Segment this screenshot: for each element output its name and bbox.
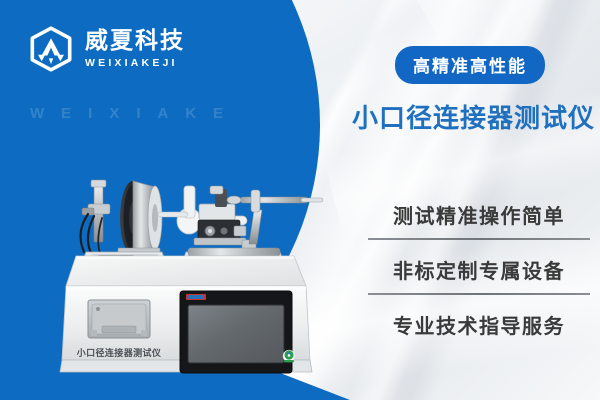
feature-item: 非标定制专属设备 bbox=[368, 255, 590, 302]
feature-item: 测试精准操作简单 bbox=[368, 200, 590, 247]
feature-label: 测试精准操作简单 bbox=[368, 200, 590, 229]
device-front-label: 小口径连接器测试仪 bbox=[76, 347, 162, 359]
product-illustration: 小口径连接器测试仪 bbox=[58, 160, 326, 382]
highlight-badge: 高精准高性能 bbox=[395, 46, 545, 84]
brand-watermark: WEIXIAKE bbox=[30, 105, 240, 122]
feature-label: 非标定制专属设备 bbox=[368, 255, 590, 284]
feature-divider bbox=[368, 238, 590, 240]
feature-list: 测试精准操作简单 非标定制专属设备 专业技术指导服务 bbox=[368, 200, 590, 346]
logo-name-en: WEIXIAKEJI bbox=[85, 58, 185, 69]
feature-divider bbox=[368, 293, 590, 295]
product-banner: 威夏科技 WEIXIAKEJI WEIXIAKE 高精准高性能 小口径连接器测试… bbox=[0, 0, 600, 400]
product-title: 小口径连接器测试仪 bbox=[352, 98, 588, 135]
product-photo: 小口径连接器测试仪 bbox=[58, 160, 326, 382]
headline-block: 高精准高性能 小口径连接器测试仪 bbox=[352, 46, 588, 135]
brand-logo[interactable]: 威夏科技 WEIXIAKEJI bbox=[28, 26, 185, 72]
feature-label: 专业技术指导服务 bbox=[368, 310, 590, 339]
feature-item: 专业技术指导服务 bbox=[368, 310, 590, 346]
logo-wordmark: 威夏科技 WEIXIAKEJI bbox=[85, 30, 185, 69]
hexagon-mountain-logo-icon bbox=[28, 26, 74, 72]
logo-name-cn: 威夏科技 bbox=[85, 30, 185, 53]
